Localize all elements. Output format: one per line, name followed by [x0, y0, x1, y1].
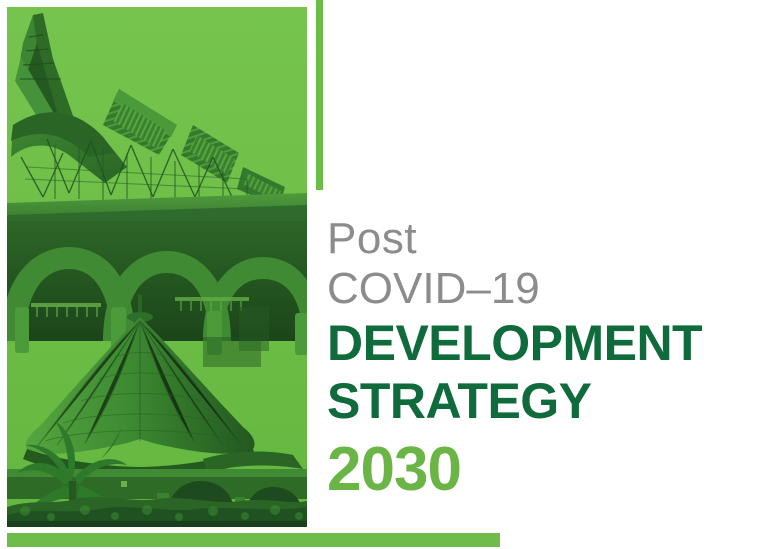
eyebrow-line-post: Post	[327, 214, 747, 264]
year-2030: 2030	[327, 434, 747, 506]
eyebrow-line-covid: COVID–19	[327, 264, 747, 314]
bottom-accent-bar	[7, 533, 500, 547]
headline-line-strategy: STRATEGY	[327, 372, 747, 430]
cover-page: Post COVID–19 DEVELOPMENT STRATEGY 2030	[0, 0, 761, 549]
building-photo	[7, 7, 307, 527]
title-block: Post COVID–19 DEVELOPMENT STRATEGY 2030	[327, 214, 747, 506]
building-photo-illustration	[7, 7, 307, 527]
vertical-accent-bar	[316, 0, 323, 190]
headline-line-development: DEVELOPMENT	[327, 314, 747, 372]
